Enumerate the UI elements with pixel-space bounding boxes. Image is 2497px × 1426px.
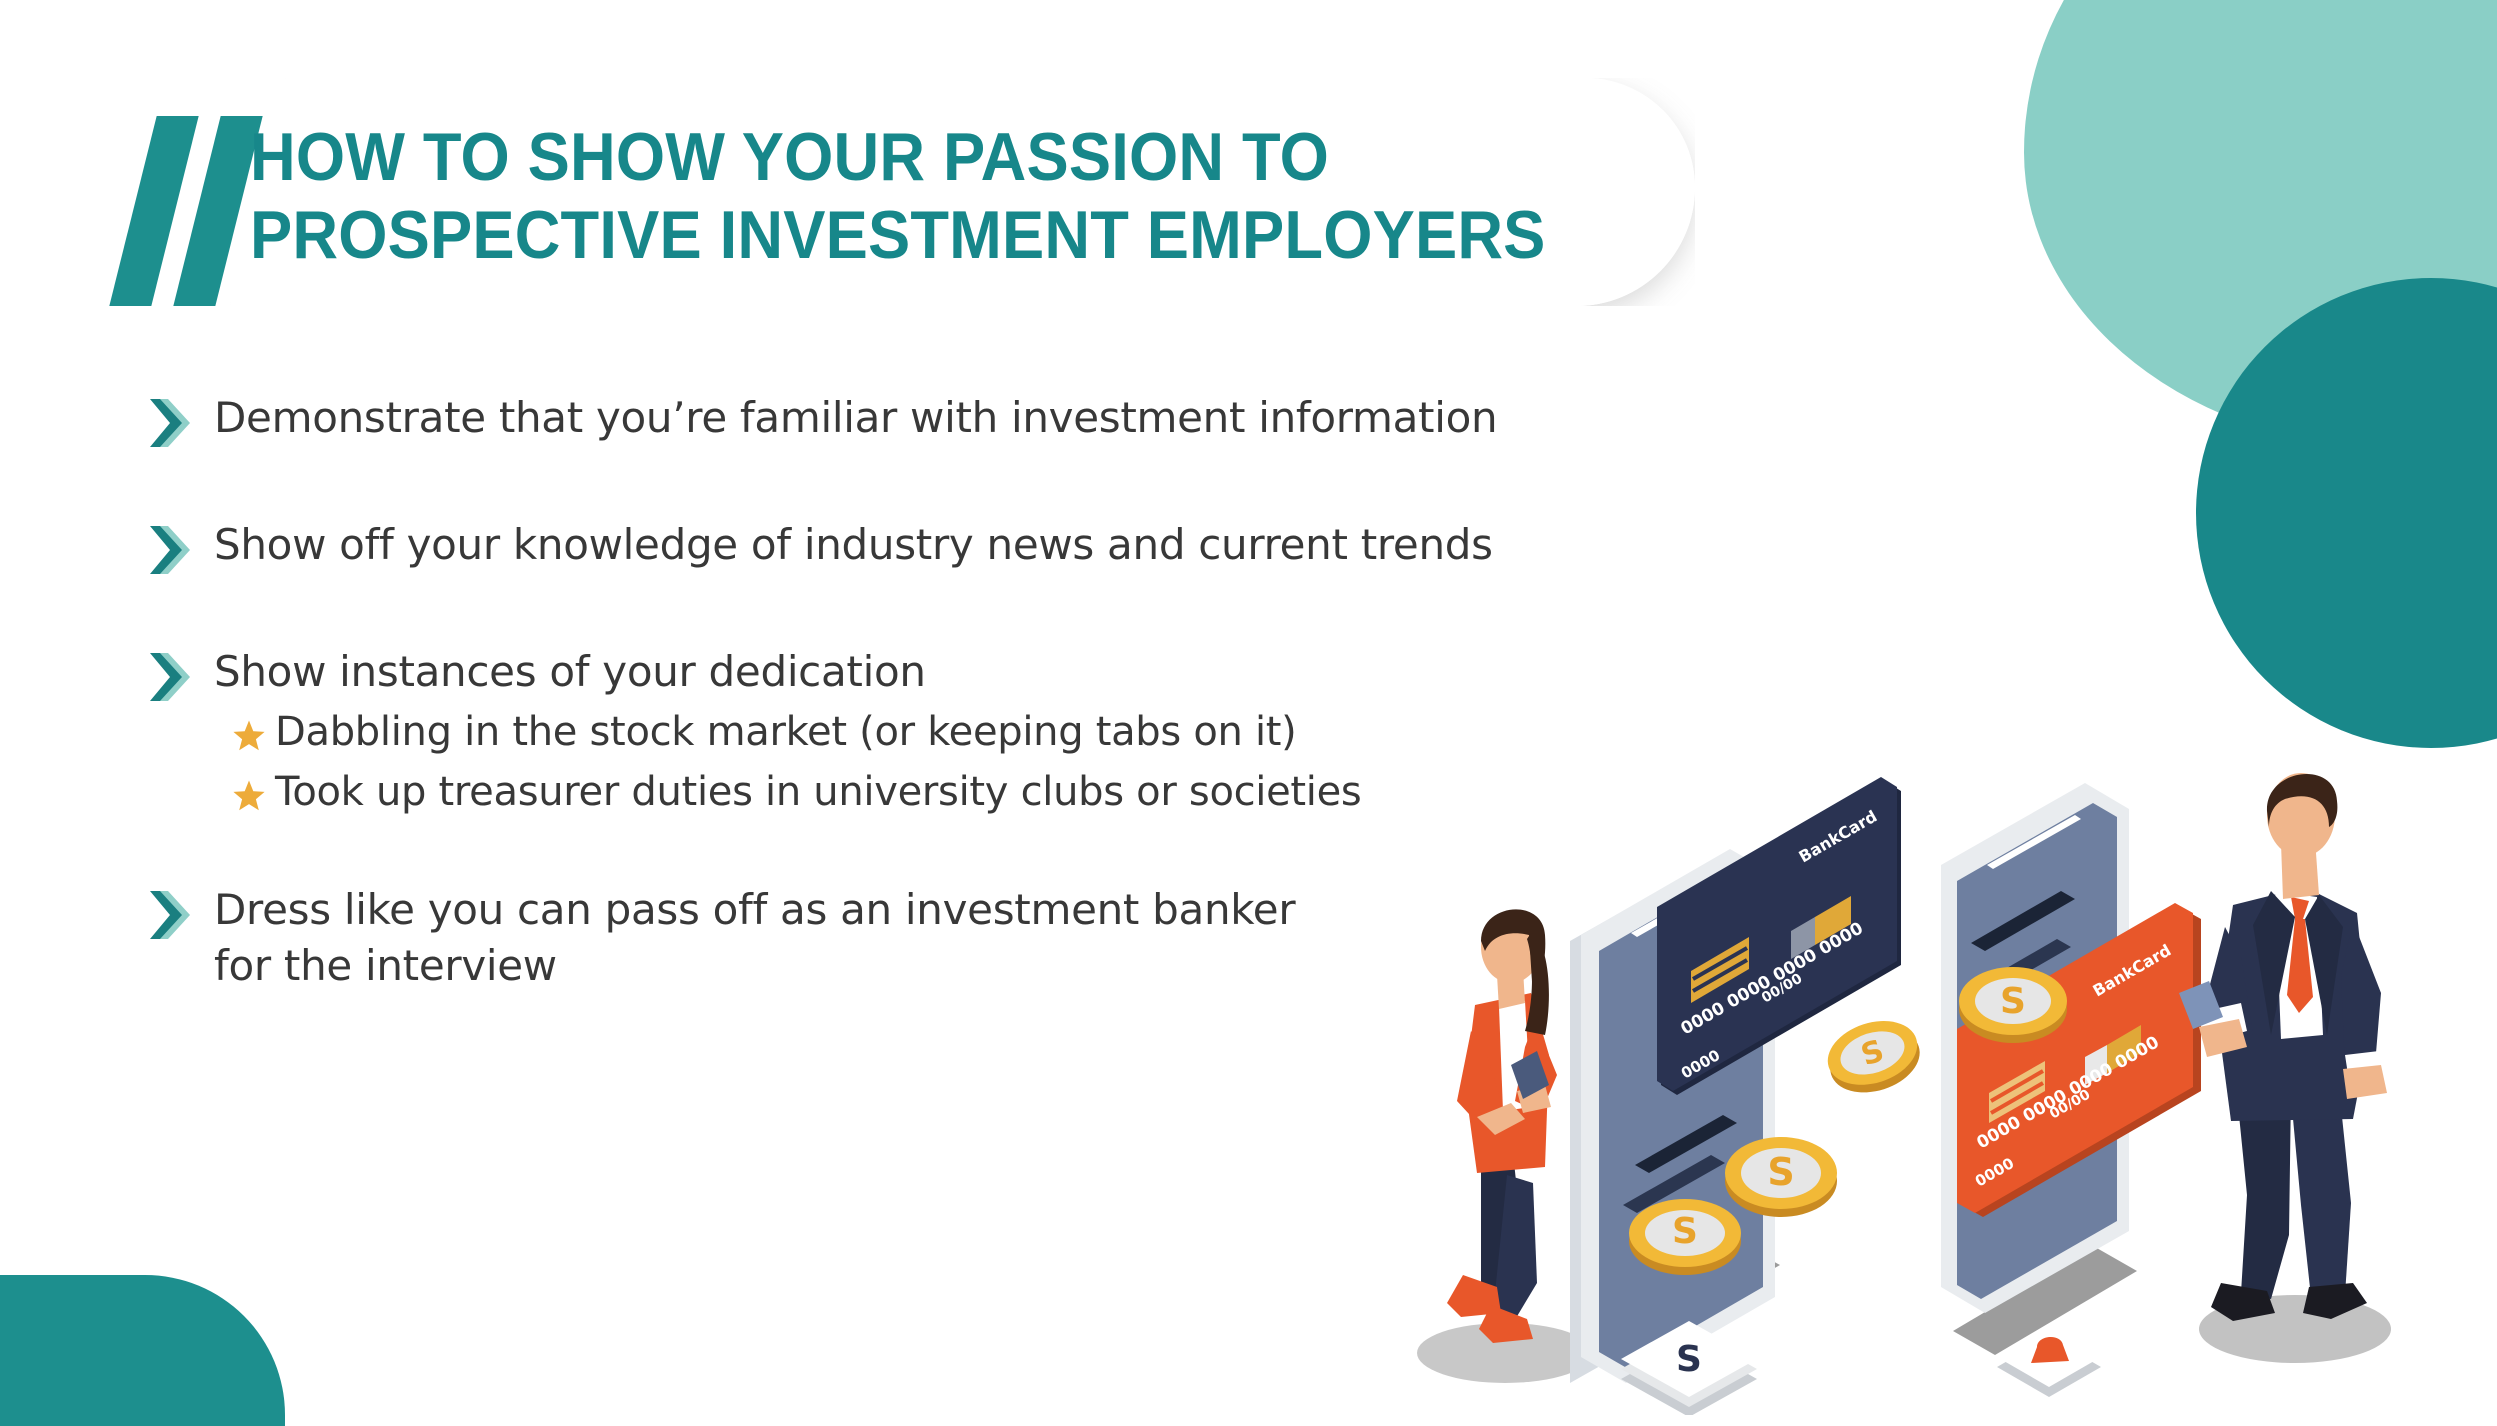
sub-list: Dabbling in the stock market (or keeping…: [232, 704, 1361, 820]
title-banner: HOW TO SHOW YOUR PASSION TO PROSPECTIVE …: [85, 78, 1725, 306]
list-item-label: Show off your knowledge of industry news…: [214, 517, 1493, 573]
sub-list-item-label: Dabbling in the stock market (or keeping…: [275, 704, 1297, 760]
sub-list-item: Dabbling in the stock market (or keeping…: [232, 704, 1361, 760]
list-item: Show off your knowledge of industry news…: [150, 517, 1670, 576]
list-item-label: Dress like you can pass off as an invest…: [214, 882, 1295, 994]
list-item-body: Show instances of your dedication Dabbli…: [214, 644, 1361, 820]
list-item-label: Demonstrate that you’re familiar with in…: [214, 390, 1497, 446]
chevron-double-icon: [150, 889, 206, 941]
blob-bottom-left-decoration: [0, 1275, 285, 1426]
svg-text:S: S: [2000, 981, 2026, 1022]
svg-text:S: S: [1767, 1150, 1794, 1194]
chevron-double-icon: [150, 651, 206, 703]
chevron-double-icon: [150, 524, 206, 576]
star-icon: [232, 779, 266, 813]
cash-symbol: S: [1676, 1339, 1702, 1380]
page-title: HOW TO SHOW YOUR PASSION TO PROSPECTIVE …: [250, 118, 1546, 274]
gold-coin-right: S: [1959, 967, 2067, 1043]
list-item-label: Show instances of your dedication: [214, 647, 926, 696]
man-in-suit: [2179, 773, 2391, 1363]
slide-canvas: HOW TO SHOW YOUR PASSION TO PROSPECTIVE …: [0, 0, 2497, 1426]
sub-list-item: Took up treasurer duties in university c…: [232, 764, 1361, 820]
woman-with-phone: [1447, 909, 1557, 1343]
isometric-mobile-banking-illustration: 0000 0000 0000 0000 0000 00/00 BankCard: [1385, 735, 2425, 1415]
sub-list-item-label: Took up treasurer duties in university c…: [275, 764, 1361, 820]
svg-text:S: S: [1672, 1211, 1698, 1252]
star-icon: [232, 719, 266, 753]
chevron-double-icon: [150, 397, 206, 449]
list-item: Demonstrate that you’re familiar with in…: [150, 390, 1670, 449]
man-hand-right: [2343, 1065, 2387, 1099]
